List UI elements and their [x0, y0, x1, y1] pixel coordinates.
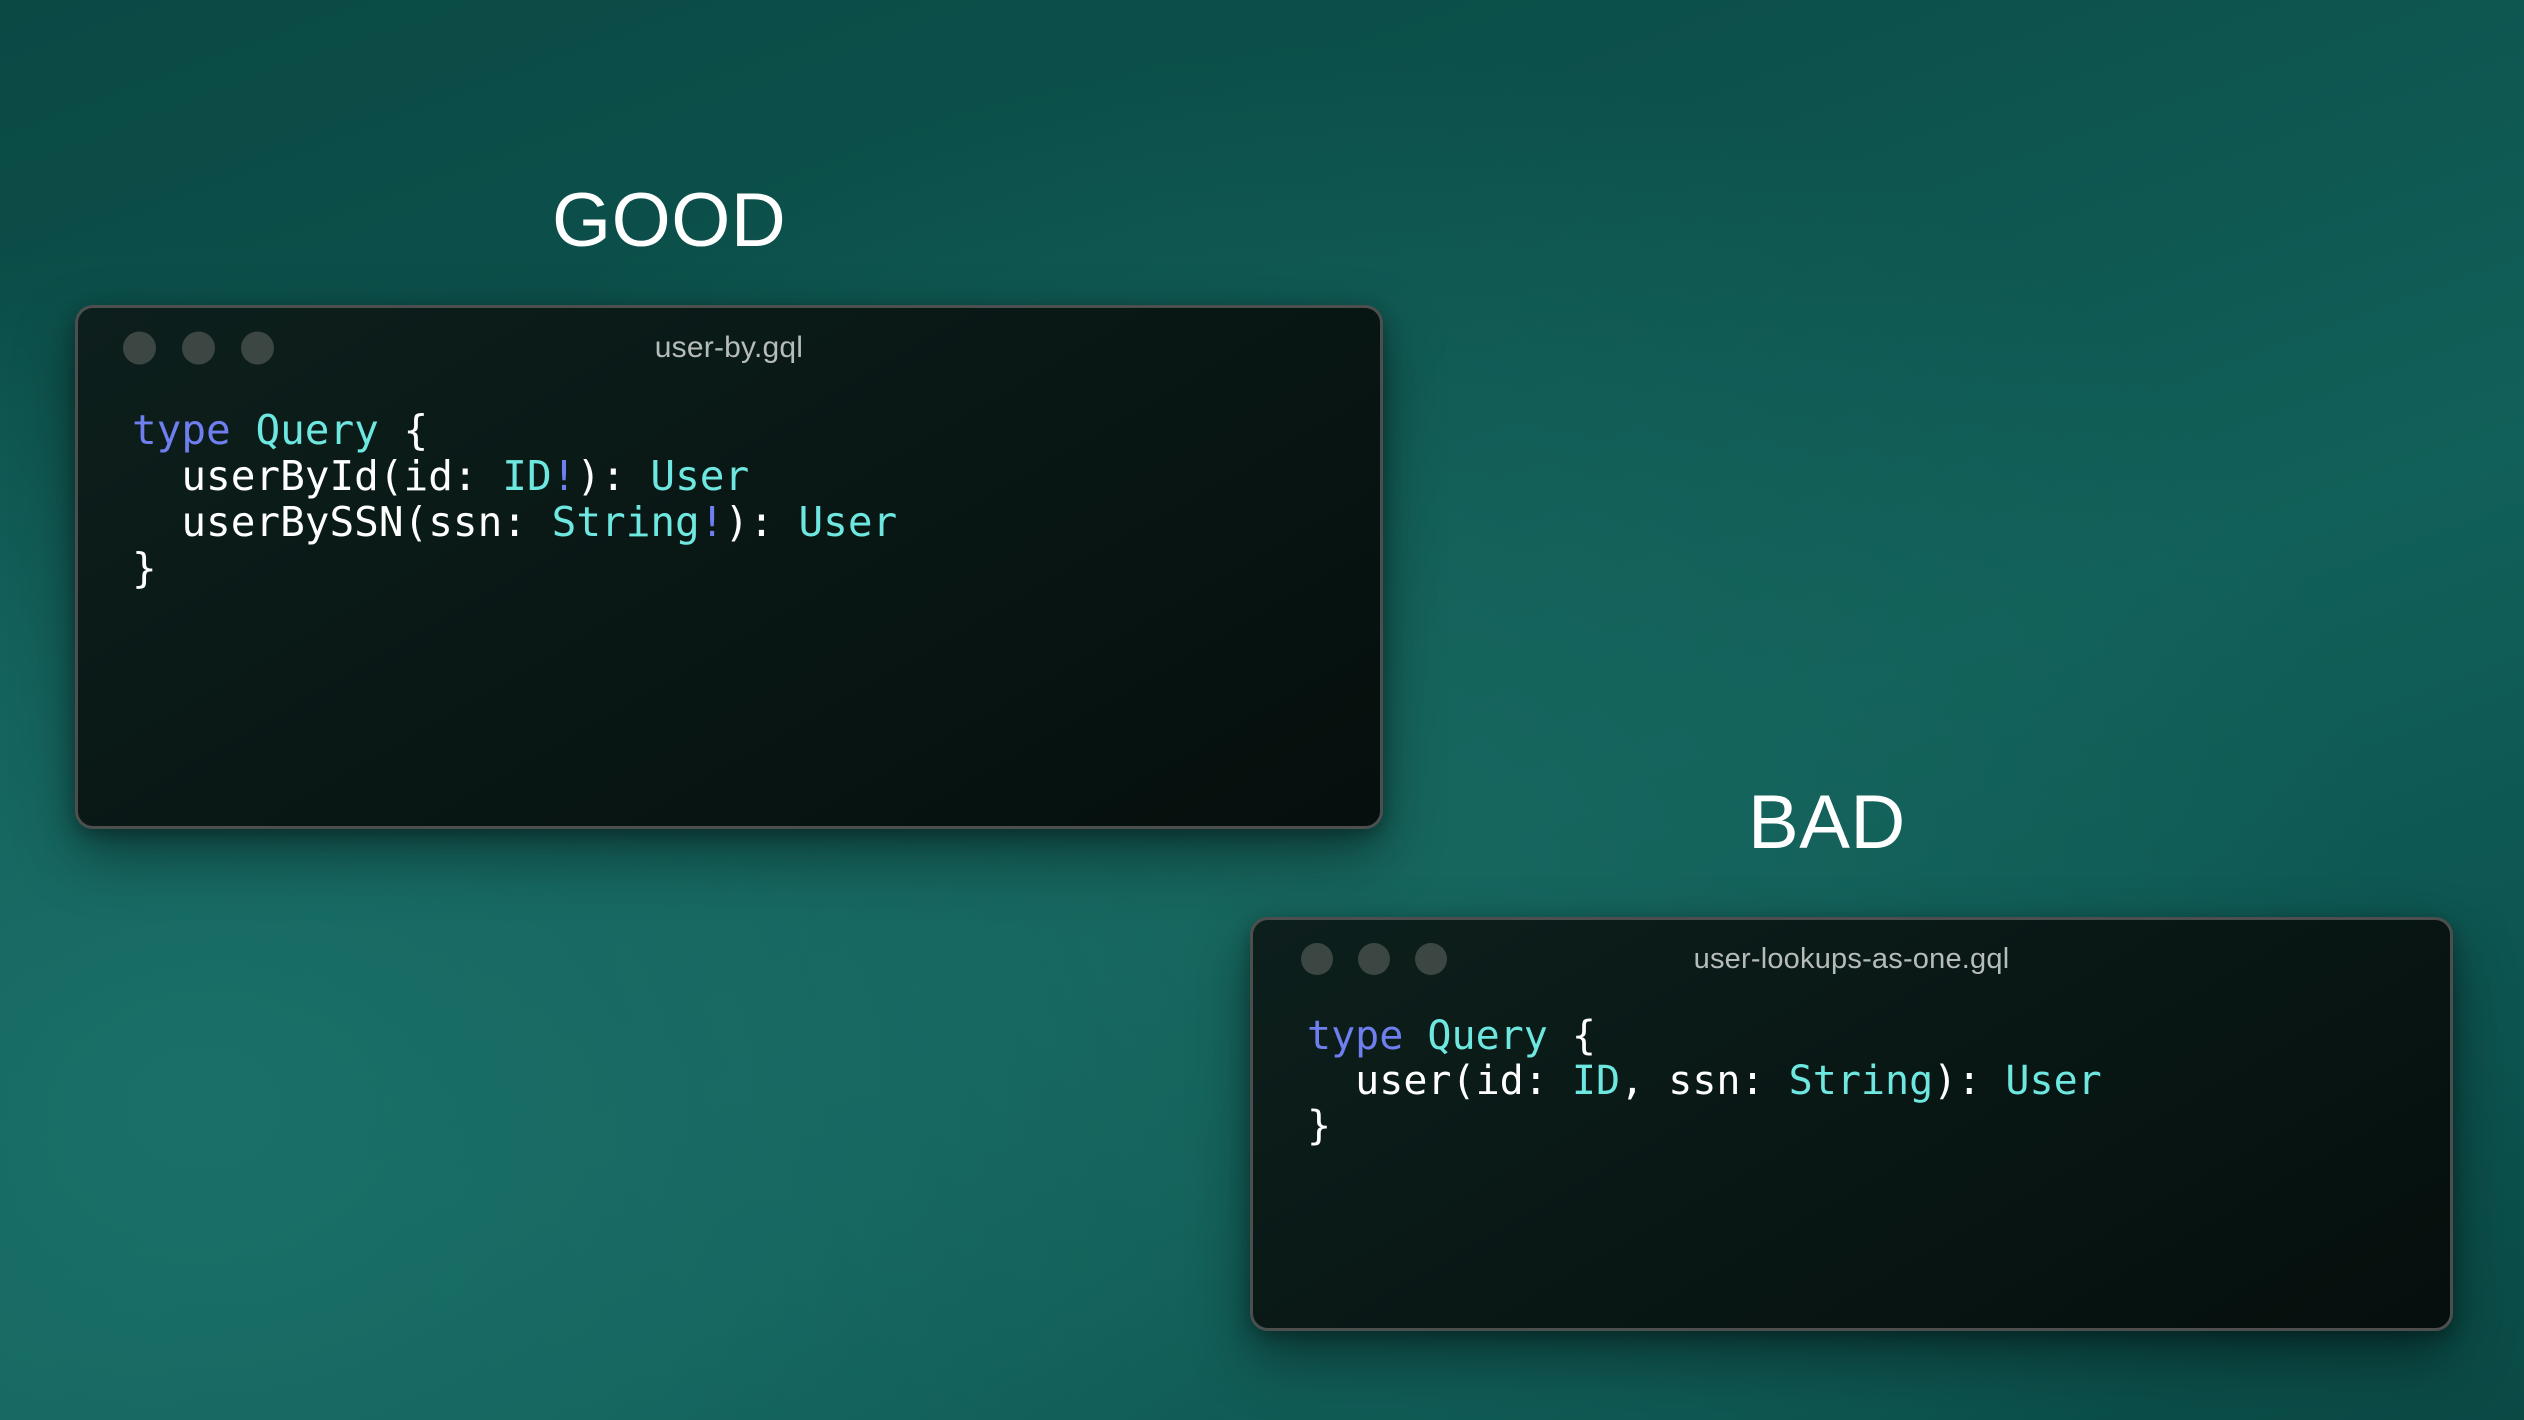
- slide-canvas: GOOD BAD user-by.gql type Query { userBy…: [0, 0, 2524, 1420]
- code-token-type: Query: [1427, 1013, 1547, 1059]
- code-token-punct: {: [379, 406, 428, 454]
- code-line: type Query {: [1307, 1014, 2450, 1059]
- code-line: userBySSN(ssn: String!): User: [132, 500, 1380, 546]
- bad-label: BAD: [1748, 785, 1906, 861]
- code-token-type: String: [1789, 1058, 1934, 1104]
- code-block: type Query { user(id: ID, ssn: String): …: [1253, 998, 2450, 1148]
- code-token-type: User: [2005, 1058, 2101, 1104]
- maximize-dot-icon[interactable]: [241, 332, 274, 365]
- code-window-good: user-by.gql type Query { userById(id: ID…: [75, 305, 1383, 829]
- code-token-bang: !: [700, 498, 725, 546]
- code-line: user(id: ID, ssn: String): User: [1307, 1059, 2450, 1104]
- close-dot-icon[interactable]: [123, 332, 156, 365]
- traffic-light-group: [1301, 943, 1447, 975]
- code-token-punct: }: [1307, 1103, 1331, 1149]
- window-titlebar: user-lookups-as-one.gql: [1253, 920, 2450, 998]
- code-token-type: ID: [1572, 1058, 1620, 1104]
- code-token-type: User: [650, 452, 749, 500]
- code-token-plain: , ssn:: [1620, 1058, 1789, 1104]
- maximize-dot-icon[interactable]: [1415, 943, 1447, 975]
- code-token-plain: userBySSN(ssn:: [132, 498, 552, 546]
- code-line: type Query {: [132, 408, 1380, 454]
- code-line: }: [1307, 1104, 2450, 1149]
- window-titlebar: user-by.gql: [78, 308, 1380, 388]
- code-token-plain: userById(id:: [132, 452, 502, 500]
- traffic-light-group: [123, 332, 274, 365]
- code-token-plain: ):: [724, 498, 798, 546]
- minimize-dot-icon[interactable]: [182, 332, 215, 365]
- code-token-punct: }: [132, 544, 157, 592]
- close-dot-icon[interactable]: [1301, 943, 1333, 975]
- code-line: userById(id: ID!): User: [132, 454, 1380, 500]
- code-token-type: ID: [502, 452, 551, 500]
- code-block: type Query { userById(id: ID!): User use…: [78, 388, 1380, 592]
- code-token-plain: ):: [576, 452, 650, 500]
- code-line: }: [132, 546, 1380, 592]
- good-label: GOOD: [552, 183, 786, 259]
- code-token-plain: user(id:: [1307, 1058, 1572, 1104]
- code-token-punct: {: [1548, 1013, 1596, 1059]
- code-token-plain: [1403, 1013, 1427, 1059]
- code-token-type: String: [552, 498, 700, 546]
- minimize-dot-icon[interactable]: [1358, 943, 1390, 975]
- code-token-kw: type: [1307, 1013, 1403, 1059]
- code-token-bang: !: [552, 452, 577, 500]
- code-token-type: Query: [255, 406, 378, 454]
- code-token-plain: [231, 406, 256, 454]
- code-token-kw: type: [132, 406, 231, 454]
- code-token-type: User: [799, 498, 898, 546]
- code-token-plain: ):: [1933, 1058, 2005, 1104]
- code-window-bad: user-lookups-as-one.gql type Query { use…: [1250, 917, 2453, 1331]
